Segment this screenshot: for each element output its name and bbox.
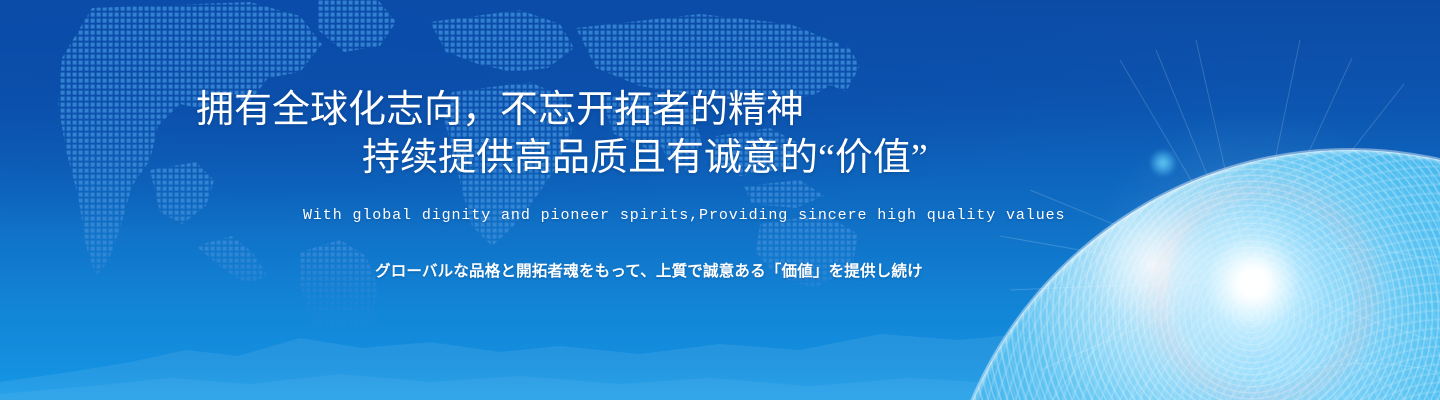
hero-banner: 拥有全球化志向，不忘开拓者的精神 持续提供高品质且有诚意的“价值” With g… (0, 0, 1440, 400)
dotted-world-map (0, 0, 900, 340)
sun-flare-core (1168, 198, 1338, 368)
lens-flare-orb (1150, 150, 1176, 176)
